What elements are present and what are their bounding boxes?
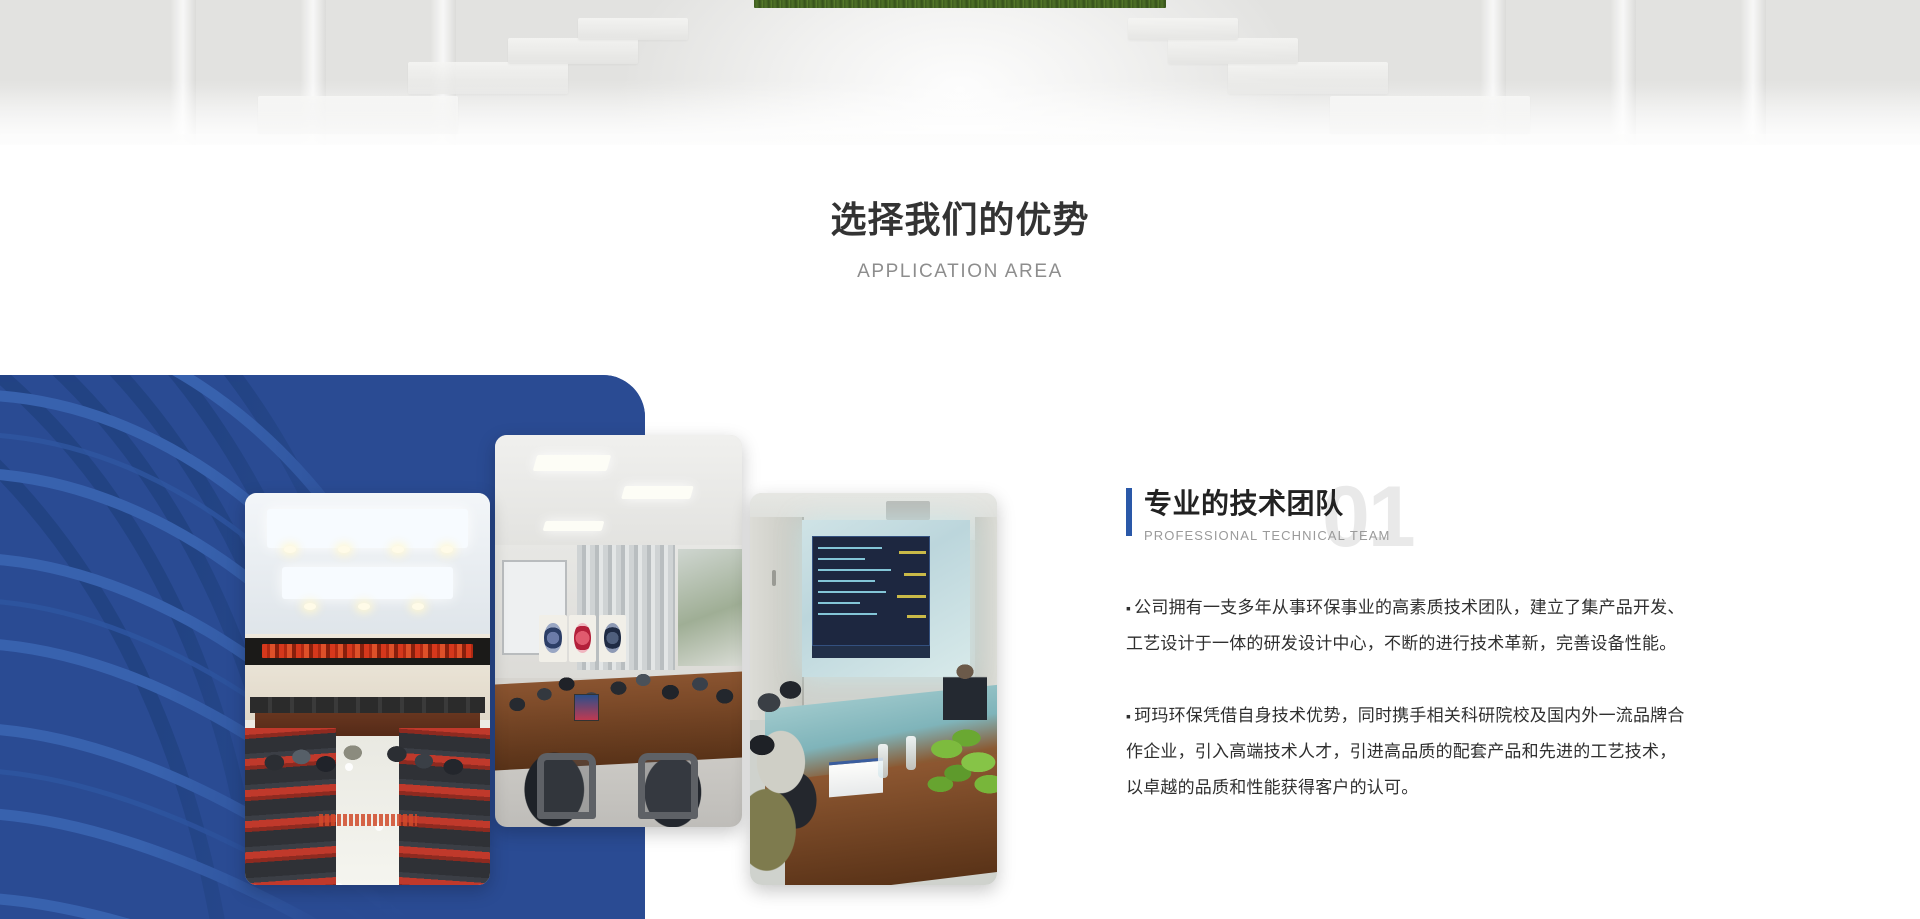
page-root: 选择我们的优势 APPLICATION AREA bbox=[0, 0, 1920, 919]
feature-block: 01 专业的技术团队 PROFESSIONAL TECHNICAL TEAM ▪… bbox=[1126, 486, 1686, 806]
feature-title-group: 01 专业的技术团队 PROFESSIONAL TECHNICAL TEAM bbox=[1126, 486, 1686, 560]
title-accent-bar bbox=[1126, 488, 1132, 536]
feature-paragraph-text: 珂玛环保凭借自身技术优势，同时携手相关科研院校及国内外一流品牌合作企业，引入高端… bbox=[1126, 706, 1685, 797]
feature-title: 专业的技术团队 bbox=[1144, 486, 1686, 522]
photo-projector-meeting bbox=[750, 493, 997, 885]
bullet-icon: ▪ bbox=[1126, 600, 1131, 616]
feature-subtitle: PROFESSIONAL TECHNICAL TEAM bbox=[1144, 527, 1686, 545]
feature-paragraph-text: 公司拥有一支多年从事环保事业的高素质技术团队，建立了集产品开发、工艺设计于一体的… bbox=[1126, 598, 1685, 653]
list-item[interactable] bbox=[495, 435, 742, 827]
photo-auditorium-lecture bbox=[245, 493, 490, 885]
bullet-icon: ▪ bbox=[1126, 708, 1131, 724]
section-heading: 选择我们的优势 APPLICATION AREA bbox=[0, 196, 1920, 286]
page-title: 选择我们的优势 bbox=[0, 196, 1920, 244]
page-subtitle: APPLICATION AREA bbox=[0, 258, 1920, 286]
list-item[interactable] bbox=[750, 493, 997, 885]
feature-body: ▪公司拥有一支多年从事环保事业的高素质技术团队，建立了集产品开发、工艺设计于一体… bbox=[1126, 590, 1686, 806]
feature-paragraph: ▪公司拥有一支多年从事环保事业的高素质技术团队，建立了集产品开发、工艺设计于一体… bbox=[1126, 590, 1686, 662]
hero-banner-image bbox=[0, 0, 1920, 146]
photo-conference-room bbox=[495, 435, 742, 827]
feature-paragraph: ▪珂玛环保凭借自身技术优势，同时携手相关科研院校及国内外一流品牌合作企业，引入高… bbox=[1126, 698, 1686, 806]
list-item[interactable] bbox=[245, 493, 490, 885]
